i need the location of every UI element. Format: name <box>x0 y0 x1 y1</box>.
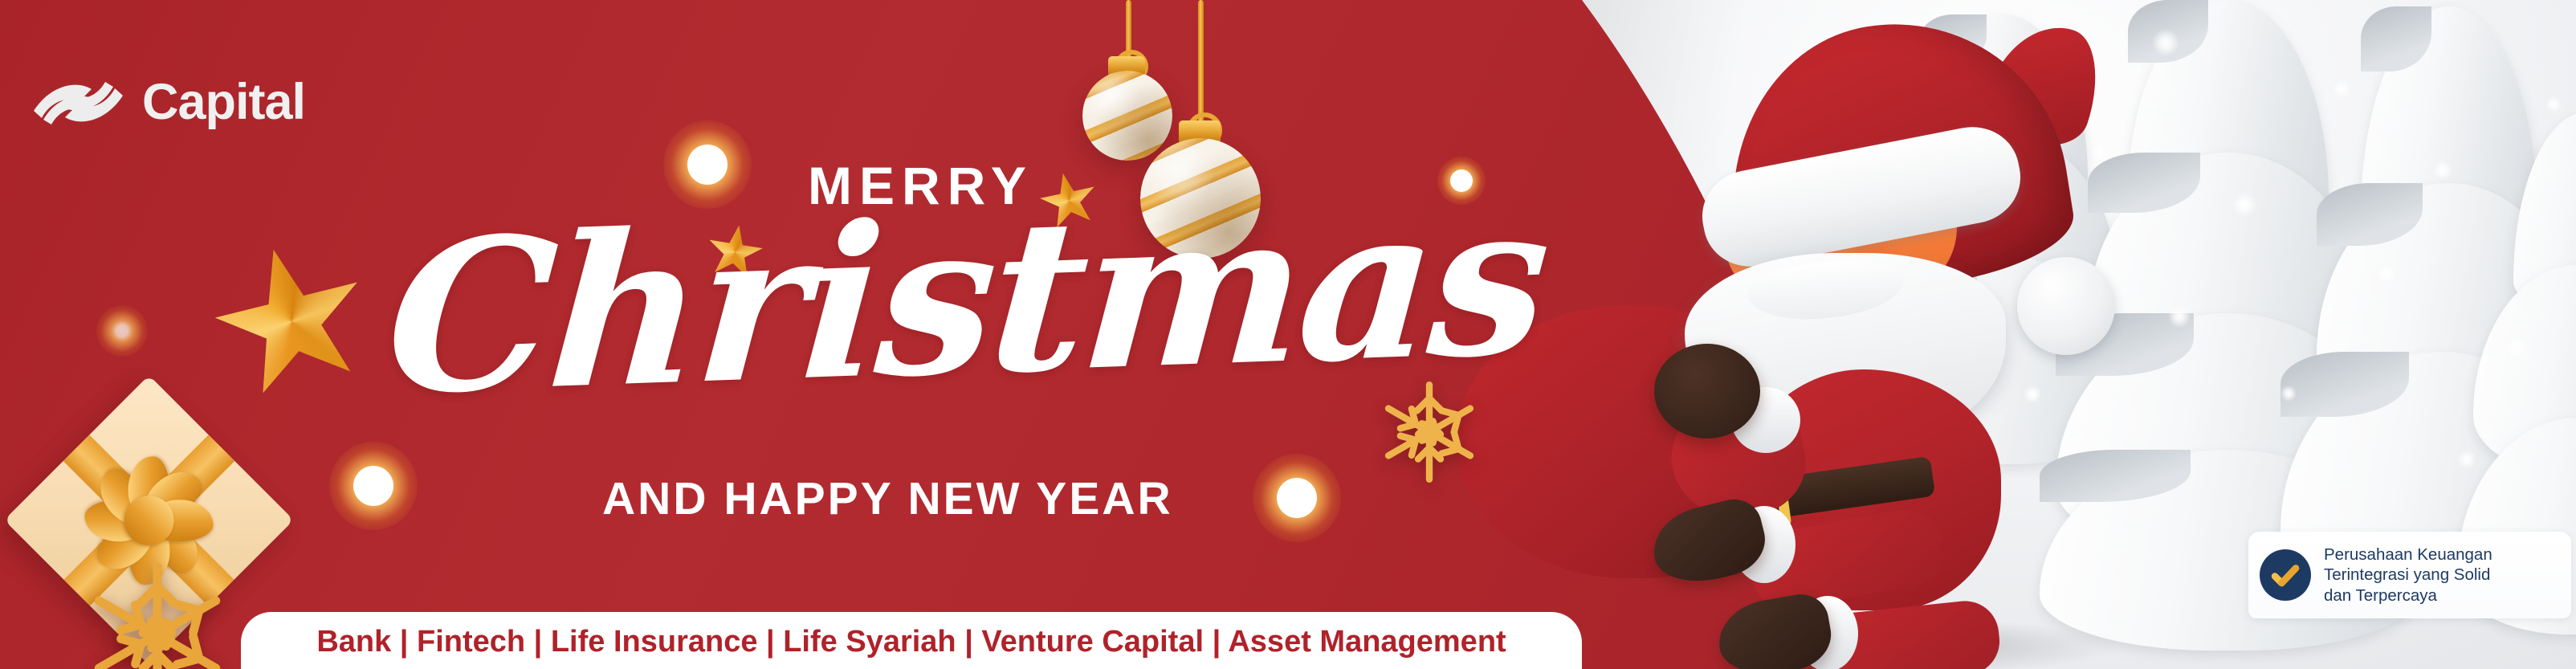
santa-hat-pompom <box>2017 257 2115 355</box>
bauble-string <box>1198 0 1204 124</box>
bokeh-core <box>1277 478 1317 518</box>
capital-logo[interactable]: Capital <box>32 77 305 128</box>
santa-glove <box>1654 344 1760 439</box>
snow-speck <box>2333 80 2350 98</box>
trust-badge-line1: Perusahaan Keuangan <box>2324 545 2492 564</box>
santa-boot <box>1713 590 1836 669</box>
services-bar: Bank | Fintech | Life Insurance | Life S… <box>241 612 1582 669</box>
snow-speck <box>2545 96 2562 112</box>
christmas-promo-banner: Capital <box>0 0 2576 669</box>
services-list: Bank | Fintech | Life Insurance | Life S… <box>316 625 1506 659</box>
headline-subline: AND HAPPY NEW YEAR <box>602 472 1173 525</box>
bokeh-core <box>687 145 728 185</box>
gold-snowflake-icon <box>77 554 238 669</box>
snow-speck <box>2505 337 2526 358</box>
snow-speck <box>2433 161 2452 180</box>
trust-badge-text: Perusahaan Keuangan Terintegrasi yang So… <box>2324 545 2492 606</box>
snow-speck <box>2377 265 2395 283</box>
snow-speck <box>2457 450 2476 469</box>
brand-name: Capital <box>142 77 305 128</box>
snow-speck <box>2232 193 2256 217</box>
headline-script: Christmas <box>381 175 1551 424</box>
snow-speck <box>2280 385 2297 402</box>
trust-badge: Perusahaan Keuangan Terintegrasi yang So… <box>2248 532 2571 618</box>
trust-badge-line2: Terintegrasi yang Solid <box>2324 565 2490 584</box>
bokeh-core <box>353 466 393 506</box>
swoosh-waves-logo-icon <box>32 78 124 128</box>
snow-speck <box>2168 305 2191 328</box>
bokeh-light <box>96 305 148 357</box>
santa-claus-illustration <box>1630 24 2160 669</box>
christmas-bauble-small <box>1082 71 1172 161</box>
check-mark-icon <box>2260 549 2311 601</box>
trust-badge-line3: dan Terpercaya <box>2324 586 2437 605</box>
